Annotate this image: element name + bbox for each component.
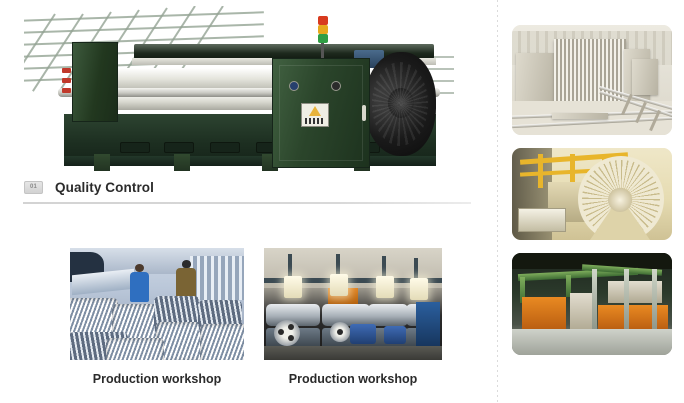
cabinet-switch-blue xyxy=(289,81,299,91)
machine-pedal xyxy=(210,142,240,153)
page-title: Quality Control xyxy=(55,180,154,195)
sidebar2-wheel-hub xyxy=(608,188,632,212)
worker-head xyxy=(135,264,144,272)
photo-b-lamp xyxy=(330,274,348,296)
sidebar-photo-mesh-panels xyxy=(512,25,672,135)
machine-foot-rail xyxy=(64,156,436,166)
machine-leg xyxy=(174,154,190,171)
hero-machine-photo xyxy=(24,6,454,171)
machine-leg xyxy=(94,154,110,171)
gallery-caption: Production workshop xyxy=(70,372,244,386)
signal-lamp-red xyxy=(318,16,328,25)
sidebar-photo-spool-wheel xyxy=(512,148,672,240)
sidebar-photo-plant-interior xyxy=(512,253,672,355)
main-content-column: 01 Quality Control xyxy=(0,0,497,403)
number-badge-icon: 01 xyxy=(24,181,43,194)
photo-b-lamp xyxy=(410,278,428,300)
signal-lamp-amber xyxy=(318,25,328,34)
hero-photo-canvas xyxy=(24,6,454,171)
signal-lamp-green xyxy=(318,34,328,43)
machine-flywheel xyxy=(364,52,436,156)
machine-control-buttons xyxy=(62,68,72,98)
machine-control-cabinet xyxy=(272,58,370,168)
cabinet-door-handle xyxy=(362,105,366,121)
photo-a-wire-coils xyxy=(70,288,244,360)
page-root: 01 Quality Control xyxy=(0,0,684,403)
cabinet-switch-black xyxy=(331,81,341,91)
sidebar2-machine-box xyxy=(518,208,566,232)
cabinet-warning-label xyxy=(301,103,329,127)
photo-b-lamp xyxy=(284,276,302,298)
column-divider xyxy=(497,0,498,403)
flywheel-hub xyxy=(388,88,414,118)
production-workshop-wire-coils xyxy=(70,248,244,360)
worker-head xyxy=(182,260,191,268)
photo-b-floor xyxy=(264,346,442,360)
machine-left-housing xyxy=(72,42,118,122)
photo-b-blue-cabinet xyxy=(416,302,440,346)
production-workshop-drawing-machines xyxy=(264,248,442,360)
section-heading: 01 Quality Control xyxy=(24,176,154,198)
photo-b-flywheel xyxy=(330,322,350,342)
signal-tower-light xyxy=(318,16,328,60)
section-divider xyxy=(23,202,471,204)
machine-pedal xyxy=(164,142,194,153)
sidebar3-floor xyxy=(512,329,672,355)
photo-b-flywheel xyxy=(274,320,300,346)
machine-pedal xyxy=(120,142,150,153)
gallery-caption: Production workshop xyxy=(264,372,442,386)
photo-b-lamp xyxy=(376,276,394,298)
